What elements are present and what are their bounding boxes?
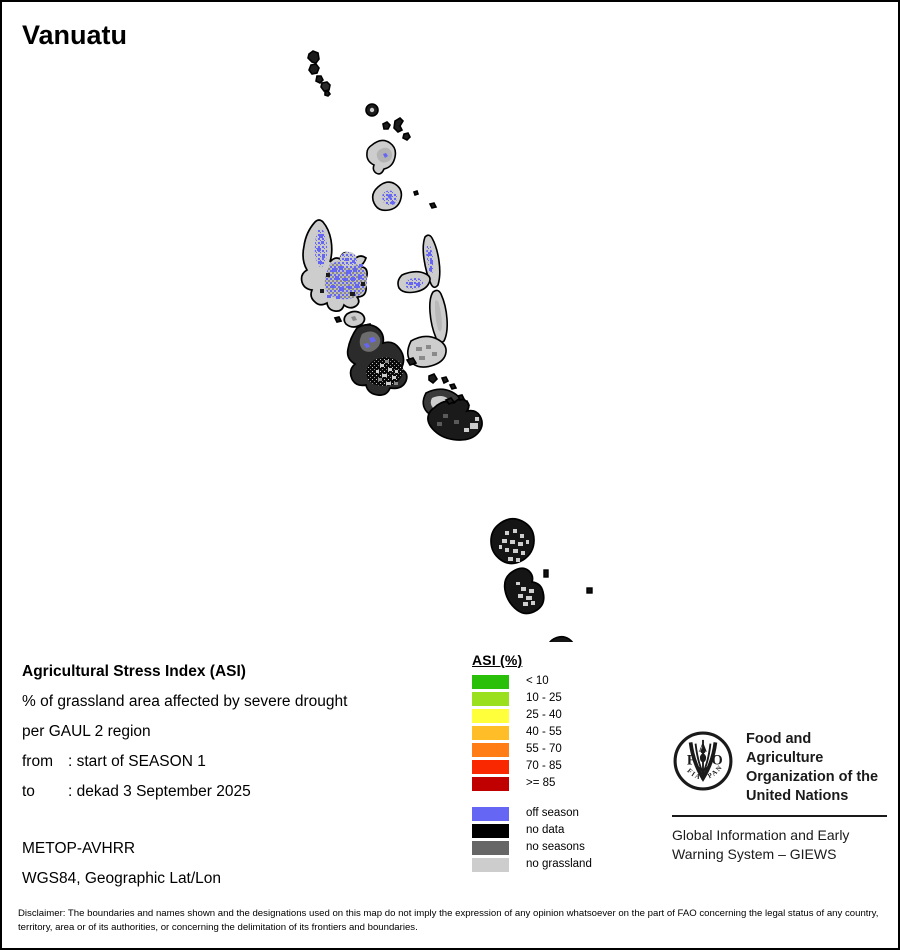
island-erromango: [491, 519, 534, 564]
to-label: to: [22, 777, 68, 807]
info-period-to: to: dekad 3 September 2025: [22, 777, 452, 807]
map-info-block: Agricultural Stress Index (ASI) % of gra…: [22, 657, 452, 807]
legend-class-row: 55 - 70: [472, 741, 662, 758]
legend-special-row: no seasons: [472, 839, 662, 856]
island-aneityum: [547, 637, 574, 642]
giews-line-2: Warning System – GIEWS: [672, 845, 887, 864]
map-legend: ASI (%) < 1010 - 2525 - 4040 - 5555 - 70…: [472, 652, 662, 873]
legend-class-swatch: [472, 777, 509, 791]
projection-label: WGS84, Geographic Lat/Lon: [22, 864, 452, 894]
island-tanna: [505, 568, 544, 613]
sensor-label: METOP-AVHRR: [22, 834, 452, 864]
giews-line-1: Global Information and Early: [672, 826, 887, 845]
from-value: : start of SEASON 1: [68, 753, 206, 770]
legend-special-swatch: [472, 807, 509, 821]
fao-name-line-2: Organization of the: [746, 768, 887, 787]
info-period-from: from: start of SEASON 1: [22, 747, 452, 777]
legend-class-swatch: [472, 709, 509, 723]
vanuatu-island-shapes: [2, 42, 898, 642]
map-canvas[interactable]: [2, 42, 898, 642]
legend-class-row: 10 - 25: [472, 690, 662, 707]
legend-class-label: 70 - 85: [526, 761, 562, 773]
giews-name: Global Information and Early Warning Sys…: [672, 826, 887, 864]
legend-special-label: no data: [526, 825, 564, 837]
legend-class-swatch: [472, 726, 509, 740]
legend-special-label: off season: [526, 808, 579, 820]
legend-special-swatch: [472, 841, 509, 855]
legend-class-label: 40 - 55: [526, 727, 562, 739]
legend-class-label: < 10: [526, 676, 549, 688]
legend-class-row: >= 85: [472, 775, 662, 792]
legend-class-swatch: [472, 692, 509, 706]
legend-class-row: 25 - 40: [472, 707, 662, 724]
legend-special-row: off season: [472, 805, 662, 822]
svg-text:A: A: [699, 742, 708, 755]
legend-class-list: < 1010 - 2525 - 4040 - 5555 - 7070 - 85>…: [472, 673, 662, 792]
info-subtitle-1: % of grassland area affected by severe d…: [22, 687, 452, 717]
to-value: : dekad 3 September 2025: [68, 783, 251, 800]
fao-divider: [672, 815, 887, 817]
legend-class-swatch: [472, 743, 509, 757]
island-torres-group: [308, 51, 330, 96]
island-ambrym: [407, 336, 446, 367]
disclaimer-text: Disclaimer: The boundaries and names sho…: [18, 907, 880, 935]
from-label: from: [22, 747, 68, 777]
info-heading: Agricultural Stress Index (ASI): [22, 657, 452, 687]
island-small-dots: [544, 570, 592, 593]
legend-class-swatch: [472, 760, 509, 774]
map-source-block: METOP-AVHRR WGS84, Geographic Lat/Lon: [22, 834, 452, 894]
legend-spacer: [472, 792, 662, 805]
legend-class-row: 40 - 55: [472, 724, 662, 741]
island-pentecost: [430, 290, 447, 342]
legend-class-label: 25 - 40: [526, 710, 562, 722]
legend-special-swatch: [472, 858, 509, 872]
legend-class-row: < 10: [472, 673, 662, 690]
legend-class-label: 55 - 70: [526, 744, 562, 756]
svg-text:F: F: [687, 753, 696, 769]
fao-branding-block: F A O FIAT PANIS Food and Agriculture Or…: [672, 730, 887, 864]
island-banks-group: [366, 104, 410, 174]
island-malakula: [348, 325, 407, 395]
fao-name-line-3: United Nations: [746, 787, 887, 806]
legend-class-label: 10 - 25: [526, 693, 562, 705]
legend-special-label: no grassland: [526, 859, 592, 871]
legend-special-label: no seasons: [526, 842, 585, 854]
fao-organization-name: Food and Agriculture Organization of the…: [746, 730, 887, 806]
legend-special-row: no grassland: [472, 856, 662, 873]
legend-class-swatch: [472, 675, 509, 689]
legend-special-row: no data: [472, 822, 662, 839]
legend-title: ASI (%): [472, 652, 662, 668]
island-vanua-lava: [373, 182, 436, 210]
info-subtitle-2: per GAUL 2 region: [22, 717, 452, 747]
legend-special-list: off seasonno datano seasonsno grassland: [472, 805, 662, 873]
island-espiritu-santo: [302, 220, 371, 329]
fao-name-line-1: Food and Agriculture: [746, 730, 887, 768]
legend-class-label: >= 85: [526, 778, 555, 790]
legend-class-row: 70 - 85: [472, 758, 662, 775]
island-ambae: [398, 272, 430, 293]
legend-special-swatch: [472, 824, 509, 838]
fao-logo-icon: F A O FIAT PANIS: [672, 730, 734, 792]
map-page: Vanuatu: [0, 0, 900, 950]
